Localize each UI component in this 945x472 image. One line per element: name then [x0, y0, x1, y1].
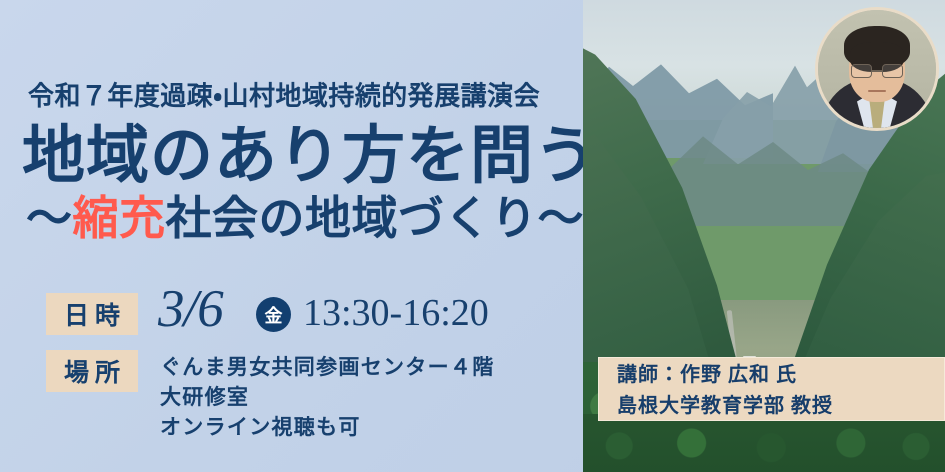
place-badge-label: 場所: [46, 350, 138, 392]
event-poster: 令和７年度過疎・山村地域持続的発展講演会 地域のあり方を問う 〜縮充社会の地域づ…: [0, 0, 945, 472]
day-of-week-badge: 金: [256, 297, 291, 332]
speaker-caption: 講師：作野 広和 氏 島根大学教育学部 教授: [598, 357, 945, 421]
portrait-hair: [844, 26, 910, 68]
date-badge-label: 日時: [46, 293, 138, 335]
speaker-name: 講師：作野 広和 氏: [599, 358, 944, 391]
poster-subtitle: 〜縮充社会の地域づくり〜: [26, 196, 584, 242]
venue-line-1: ぐんま男女共同参画センター４階: [160, 352, 495, 382]
poster-kicker: 令和７年度過疎・山村地域持続的発展講演会: [28, 74, 540, 113]
poster-text-column: 令和７年度過疎・山村地域持続的発展講演会 地域のあり方を問う 〜縮充社会の地域づ…: [0, 0, 583, 472]
subtitle-prefix: 〜: [26, 193, 73, 244]
subtitle-highlight: 縮充: [73, 193, 166, 244]
venue-line-2: 大研修室: [160, 382, 495, 412]
speaker-affiliation: 島根大学教育学部 教授: [599, 391, 944, 422]
foreground-forest-front: [583, 414, 945, 472]
glasses-icon: [851, 64, 903, 78]
subtitle-rest: 社会の地域づくり〜: [166, 193, 585, 244]
landscape-photo: 講師：作野 広和 氏 島根大学教育学部 教授: [583, 0, 945, 472]
speaker-portrait: [815, 7, 939, 131]
venue-lines: ぐんま男女共同参画センター４階 大研修室 オンライン視聴も可: [160, 352, 495, 442]
venue-line-3: オンライン視聴も可: [160, 412, 495, 442]
event-time: 13:30-16:20: [303, 294, 489, 332]
poster-title: 地域のあり方を問う: [22, 125, 598, 188]
event-date: 3/6: [158, 283, 223, 336]
portrait-mouth: [868, 90, 886, 92]
